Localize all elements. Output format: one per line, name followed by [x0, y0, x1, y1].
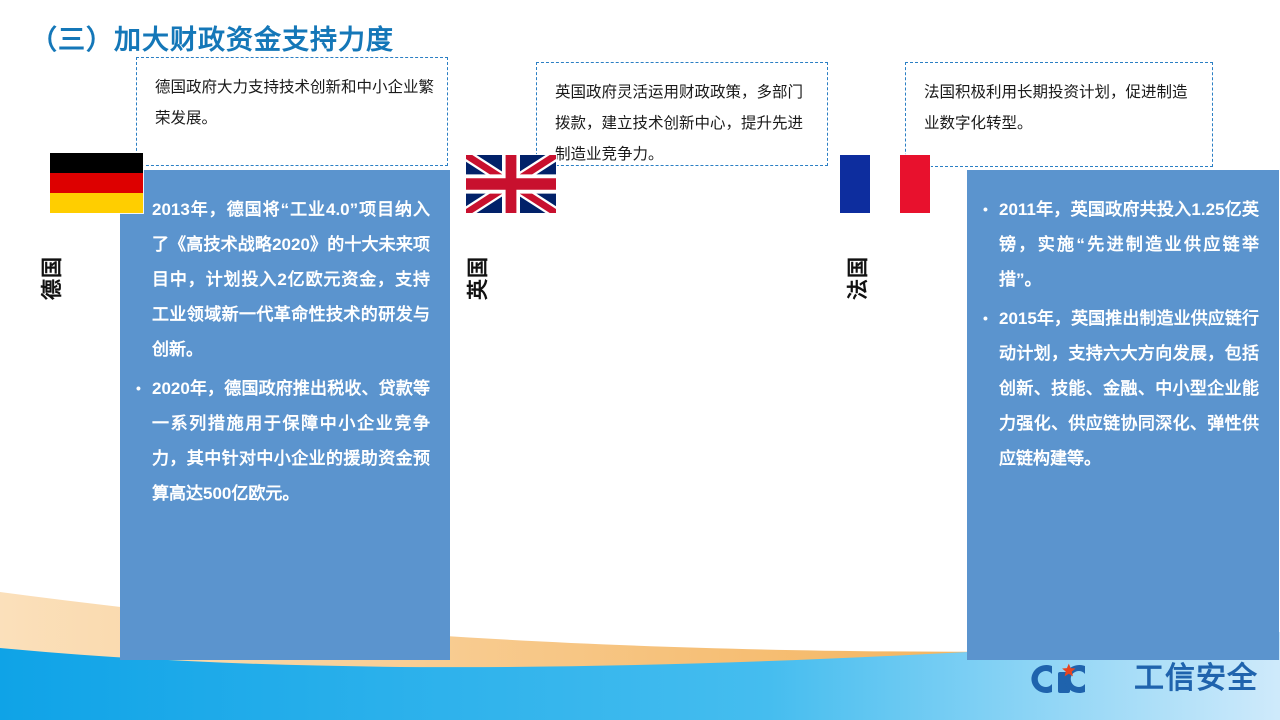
slide-canvas: （三）加大财政资金支持力度 2013年，德国将“工业4.0”项目纳入了《高技术战… [0, 0, 1280, 720]
brand-logo: 工信安全 [1018, 658, 1258, 700]
content-panel-germany: 2013年，德国将“工业4.0”项目纳入了《高技术战略2020》的十大未来项目中… [120, 170, 450, 660]
callout-note-germany: 德国政府大力支持技术创新和中小企业繁荣发展。 [136, 57, 448, 166]
germany-flag-icon [50, 153, 143, 213]
list-item: 2013年，德国将“工业4.0”项目纳入了《高技术战略2020》的十大未来项目中… [134, 192, 430, 367]
country-tag-germany: 德国 [36, 256, 66, 300]
country-tag-france: 法国 [842, 256, 872, 300]
callout-note-france: 法国积极利用长期投资计划，促进制造业数字化转型。 [905, 62, 1213, 167]
country-tag-uk: 英国 [462, 256, 492, 300]
list-item: 2020年，德国政府推出税收、贷款等一系列措施用于保障中小企业竞争力，其中针对中… [134, 371, 430, 511]
bullet-list-germany: 2013年，德国将“工业4.0”项目纳入了《高技术战略2020》的十大未来项目中… [134, 192, 430, 511]
callout-note-text: 法国积极利用长期投资计划，促进制造业数字化转型。 [924, 77, 1202, 139]
logo-text: 工信安全 [1134, 664, 1258, 694]
cic-logo-icon [1018, 658, 1130, 700]
callout-note-text: 英国政府灵活运用财政政策，多部门拨款，建立技术创新中心，提升先进制造业竞争力。 [555, 77, 817, 170]
page-title: （三）加大财政资金支持力度 [30, 18, 394, 57]
uk-flag-icon [466, 155, 556, 213]
france-flag-icon [840, 155, 930, 213]
callout-note-uk: 英国政府灵活运用财政政策，多部门拨款，建立技术创新中心，提升先进制造业竞争力。 [536, 62, 828, 166]
callout-note-text: 德国政府大力支持技术创新和中小企业繁荣发展。 [155, 72, 437, 134]
